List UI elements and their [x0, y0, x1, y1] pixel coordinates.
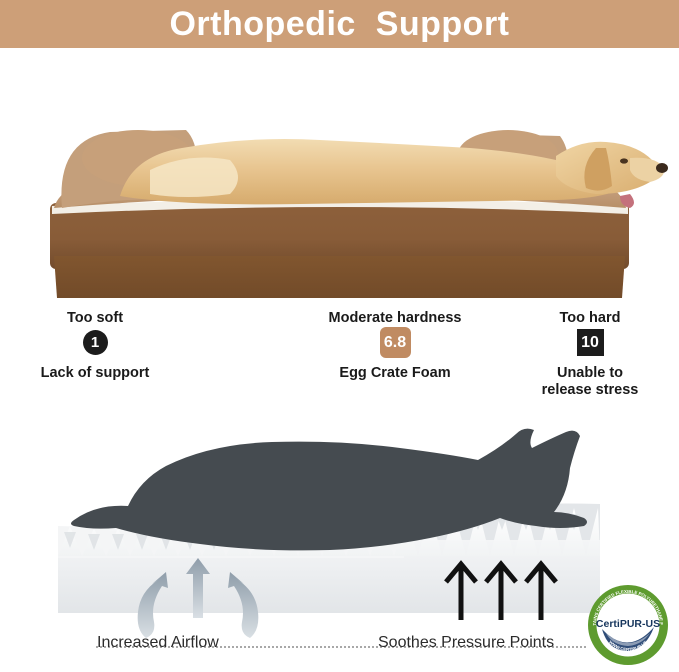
product-photo [0, 48, 679, 298]
caption-increased-airflow: Increased Airflow [97, 634, 219, 652]
bed-lower-block [54, 256, 625, 298]
scale-point-too-soft: Too soft 1 Lack of support [10, 310, 180, 382]
scale-bottom-label-too-soft: Lack of support [10, 365, 180, 382]
scale-marker-wrap-too-soft: 1 [10, 327, 180, 359]
scale-top-label-moderate: Moderate hardness [300, 310, 490, 327]
hardness-scale: Too soft 1 Lack of support Moderate hard… [0, 300, 679, 408]
scale-marker-wrap-too-hard: 10 [510, 327, 670, 359]
scale-marker-too-hard: 10 [577, 329, 604, 356]
scale-marker-wrap-moderate: 6.8 [300, 327, 490, 359]
scale-bottom-label-too-hard-line2: release stress [510, 382, 670, 399]
badge-brand-text: CertiPUR-US [596, 618, 660, 630]
scale-bottom-label-too-hard-line1: Unable to [510, 365, 670, 382]
certipur-badge-svg: CertiPUR-US CONTAINS CERTIFIED FLEXIBLE … [586, 583, 670, 667]
scale-marker-too-soft: 1 [83, 330, 108, 355]
header-banner: Orthopedic Support [0, 0, 679, 48]
foam-diagram-svg [0, 408, 679, 668]
scale-top-label-too-soft: Too soft [10, 310, 180, 327]
scale-point-moderate: Moderate hardness 6.8 Egg Crate Foam [300, 310, 490, 382]
caption-soothes-pressure-points: Soothes Pressure Points [378, 634, 554, 652]
scale-top-label-too-hard: Too hard [510, 310, 670, 327]
scale-marker-moderate: 6.8 [380, 327, 411, 358]
pressure-arrows [446, 564, 556, 620]
dog-nose [656, 163, 668, 173]
page-title: Orthopedic Support [169, 7, 509, 41]
foam-cross-section-diagram [0, 408, 679, 668]
scale-bottom-label-moderate: Egg Crate Foam [300, 365, 490, 382]
infographic-page: Orthopedic Support [0, 0, 679, 668]
dog-bed-photo-illustration [0, 48, 679, 298]
certipur-us-badge: CertiPUR-US CONTAINS CERTIFIED FLEXIBLE … [586, 583, 670, 667]
scale-point-too-hard: Too hard 10 Unable to release stress [510, 310, 670, 399]
dog-eye [620, 158, 628, 163]
